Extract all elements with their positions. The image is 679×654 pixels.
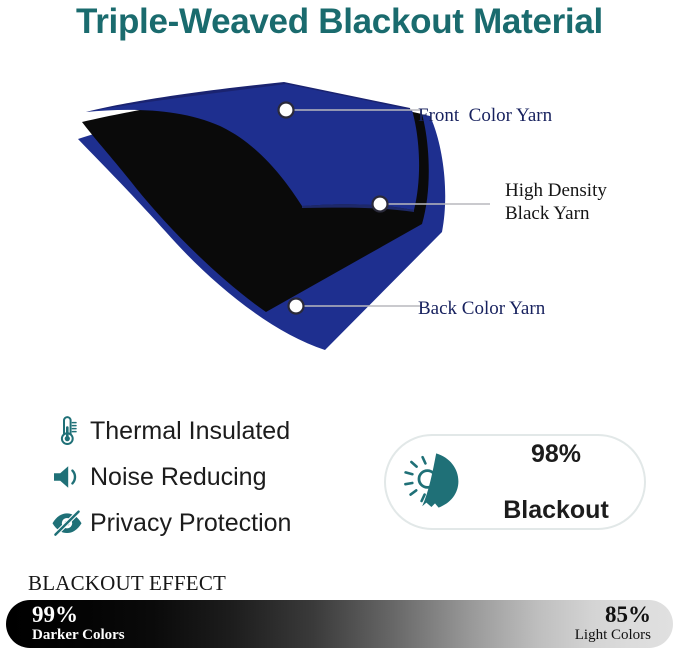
callout-label-back-color-yarn: Back Color Yarn [418, 297, 545, 320]
sun-blocked-icon [386, 451, 482, 513]
callout-label-high-density-black-yarn: High Density Black Yarn [505, 179, 607, 225]
blackout-effect-gradient-bar: 99% Darker Colors 85% Light Colors [6, 600, 673, 648]
darker-colors-percent: 99% [32, 603, 78, 626]
blackout-effect-heading: BLACKOUT EFFECT [28, 571, 226, 596]
feature-label: Noise Reducing [90, 463, 267, 492]
callout-label-front-color-yarn: Front Color Yarn [418, 104, 552, 127]
feature-label: Thermal Insulated [90, 417, 290, 446]
callout-marker-front [279, 103, 294, 118]
feature-item-noise-reducing: Noise Reducing [44, 454, 374, 500]
feature-item-privacy-protection: Privacy Protection [44, 500, 374, 546]
page-title: Triple-Weaved Blackout Material [0, 2, 679, 42]
feature-item-thermal-insulated: Thermal Insulated [44, 408, 374, 454]
blackout-badge-text: 98% Blackout [482, 412, 644, 552]
blackout-word: Blackout [482, 496, 630, 524]
blackout-badge: 98% Blackout [384, 434, 646, 530]
darker-colors-caption: Darker Colors [32, 627, 125, 645]
thermometer-icon [44, 415, 90, 447]
callout-marker-middle [373, 197, 388, 212]
blackout-percent: 98% [482, 440, 630, 468]
light-colors-percent: 85% [605, 603, 651, 626]
blackout-effect-darker-colors: 99% Darker Colors [32, 600, 125, 648]
callout-marker-back [289, 299, 304, 314]
feature-list: Thermal Insulated Noise Reducing Privacy… [44, 408, 374, 546]
light-colors-caption: Light Colors [575, 627, 651, 645]
blackout-effect-light-colors: 85% Light Colors [575, 600, 651, 648]
speaker-icon [44, 462, 90, 492]
eye-slash-icon [44, 509, 90, 537]
feature-label: Privacy Protection [90, 509, 291, 538]
